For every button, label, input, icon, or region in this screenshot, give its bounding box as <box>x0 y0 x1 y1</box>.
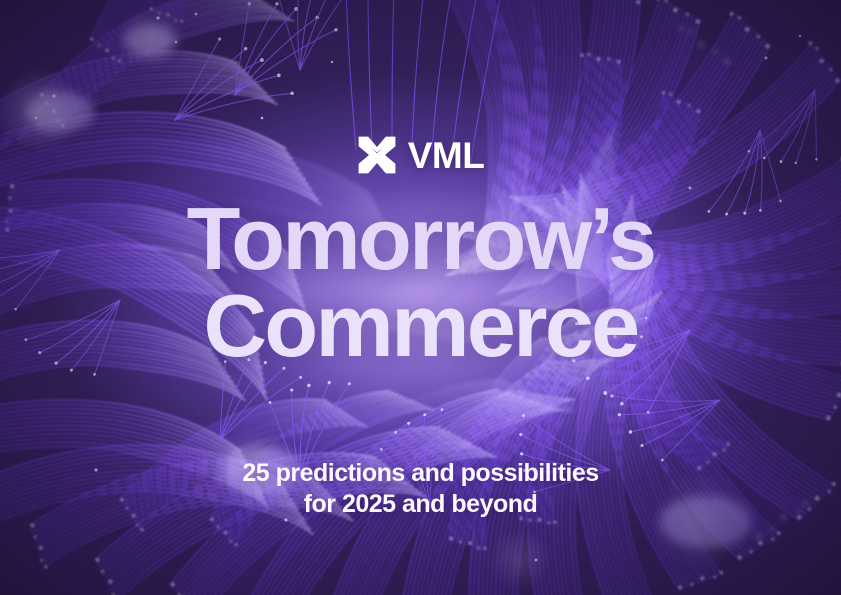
page-title: Tomorrow’s Commerce <box>187 196 655 369</box>
vml-x-logo-icon <box>357 135 397 175</box>
title-slide: VML Tomorrow’s Commerce 25 predictions a… <box>0 0 841 595</box>
subtitle-line-1: 25 predictions and possibilities <box>242 458 598 489</box>
vml-logo-lockup: VML <box>357 133 485 177</box>
vml-wordmark: VML <box>408 137 485 174</box>
headline-line-2: Commerce <box>187 283 655 370</box>
headline-line-1: Tomorrow’s <box>187 196 655 283</box>
slide-content: VML Tomorrow’s Commerce 25 predictions a… <box>0 0 841 595</box>
page-subtitle: 25 predictions and possibilities for 202… <box>242 458 598 519</box>
subtitle-line-2: for 2025 and beyond <box>242 489 598 520</box>
